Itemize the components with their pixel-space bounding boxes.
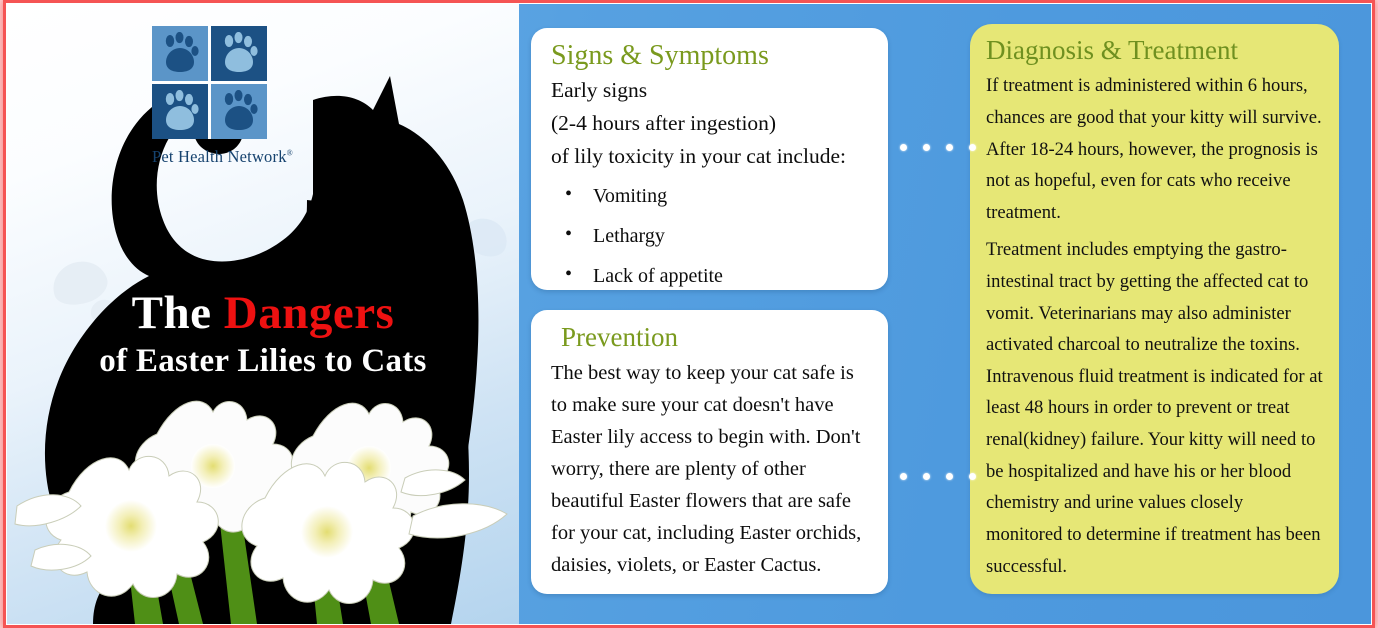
poster-canvas: Pet Health Network® The Dangers of Easte… <box>7 4 1371 624</box>
dot <box>946 473 953 480</box>
paw-print-icon <box>219 90 259 134</box>
paw-print-icon <box>219 32 259 76</box>
infographic-poster: Pet Health Network® The Dangers of Easte… <box>0 0 1378 628</box>
logo-tile-4 <box>211 84 267 139</box>
dot <box>900 144 907 151</box>
signs-lead: Early signs (2-4 hours after ingestion) … <box>551 74 868 172</box>
easter-lily-flowers-icon <box>7 374 519 624</box>
title-prefix: The <box>132 287 224 339</box>
prevention-body: The best way to keep your cat safe is to… <box>551 358 868 582</box>
diagnosis-heading: Diagnosis & Treatment <box>986 34 1323 66</box>
signs-lead-line-1: Early signs <box>551 74 868 107</box>
diagnosis-paragraph-1: If treatment is administered within 6 ho… <box>986 70 1323 228</box>
signs-lead-line-3: of lily toxicity in your cat include: <box>551 140 868 173</box>
title-line-2: of Easter Lilies to Cats <box>7 339 519 384</box>
connector-dots-bottom <box>900 473 976 480</box>
signs-lead-line-2: (2-4 hours after ingestion) <box>551 107 868 140</box>
logo-tile-1 <box>152 26 208 81</box>
dot <box>969 144 976 151</box>
list-item: Vomiting <box>551 186 868 206</box>
logo-tile-3 <box>152 84 208 139</box>
title-line-1: The Dangers <box>7 290 519 337</box>
paw-grid-icon <box>152 26 267 139</box>
cat-photo-panel: Pet Health Network® The Dangers of Easte… <box>7 4 519 624</box>
list-item: Lethargy <box>551 226 868 246</box>
card-prevention: Prevention The best way to keep your cat… <box>531 310 888 594</box>
brand-name-text: Pet Health Network <box>152 147 287 166</box>
dot <box>946 144 953 151</box>
logo-tile-2 <box>211 26 267 81</box>
registered-mark: ® <box>287 149 293 158</box>
panel-diagnosis-and-treatment: Diagnosis & Treatment If treatment is ad… <box>970 24 1339 594</box>
card-signs-and-symptoms: Signs & Symptoms Early signs (2-4 hours … <box>531 28 888 290</box>
signs-heading: Signs & Symptoms <box>551 40 868 72</box>
page-title: The Dangers of Easter Lilies to Cats <box>7 290 519 384</box>
connector-dots-top <box>900 144 976 151</box>
list-item: Lack of appetite <box>551 266 868 286</box>
title-highlight: Dangers <box>224 287 395 339</box>
brand-name: Pet Health Network® <box>152 147 270 167</box>
paw-print-icon <box>160 32 200 76</box>
dot <box>923 473 930 480</box>
paw-print-icon <box>160 90 200 134</box>
dot <box>900 473 907 480</box>
signs-bullet-list: Vomiting Lethargy Lack of appetite <box>551 186 868 286</box>
dot <box>969 473 976 480</box>
diagnosis-paragraph-2: Treatment includes emptying the gastro-i… <box>986 234 1323 582</box>
brand-logo[interactable]: Pet Health Network® <box>152 26 270 171</box>
prevention-heading: Prevention <box>561 322 868 353</box>
dot <box>923 144 930 151</box>
